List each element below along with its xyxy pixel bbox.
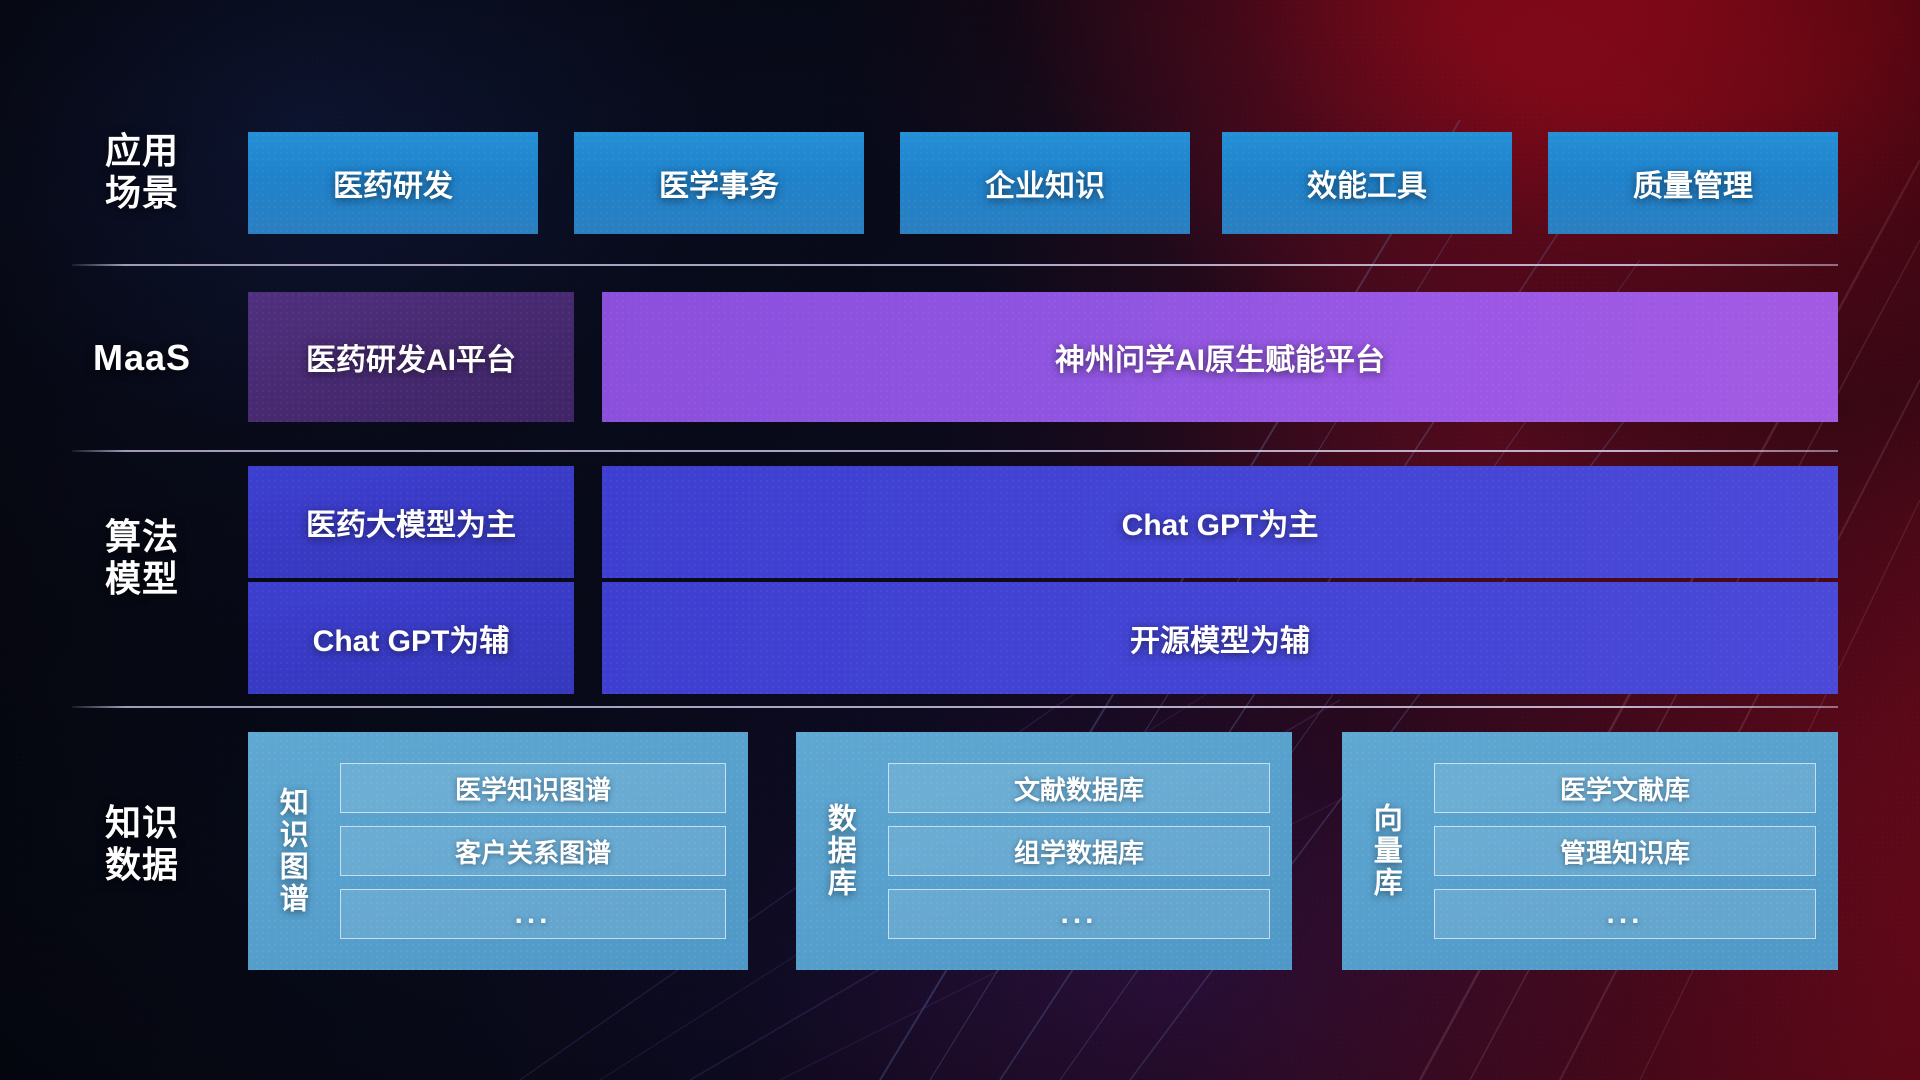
- knowledge-panel-vector-store[interactable]: 向量库 医学文献库 管理知识库 ...: [1342, 732, 1838, 970]
- scenario-box-2[interactable]: 医学事务: [574, 132, 864, 234]
- knowledge-item[interactable]: 客户关系图谱: [340, 826, 726, 876]
- algo-box-chatgpt-primary[interactable]: Chat GPT为主: [602, 466, 1838, 578]
- scenario-box-1[interactable]: 医药研发: [248, 132, 538, 234]
- maas-box-shenzhou-platform[interactable]: 神州问学AI原生赋能平台: [602, 292, 1838, 422]
- knowledge-panel-knowledge-graph[interactable]: 知识图谱 医学知识图谱 客户关系图谱 ...: [248, 732, 748, 970]
- separator-2: [72, 450, 1838, 452]
- algo-box-drug-model-primary[interactable]: 医药大模型为主: [248, 466, 574, 578]
- row-label-application-scenario: 应用 场景: [72, 130, 212, 214]
- knowledge-item[interactable]: 文献数据库: [888, 763, 1270, 813]
- maas-box-drug-rd-platform[interactable]: 医药研发AI平台: [248, 292, 574, 422]
- architecture-diagram: 应用 场景 医药研发 医学事务 企业知识 效能工具 质量管理 MaaS 医药研发…: [0, 0, 1920, 1080]
- knowledge-item-more[interactable]: ...: [1434, 889, 1816, 939]
- knowledge-panel-title-3: 向量库: [1342, 732, 1428, 970]
- separator-3: [72, 706, 1838, 708]
- knowledge-panel-title-2: 数据库: [796, 732, 882, 970]
- knowledge-item[interactable]: 医学知识图谱: [340, 763, 726, 813]
- algo-box-opensource-secondary[interactable]: 开源模型为辅: [602, 582, 1838, 694]
- separator-1: [72, 264, 1838, 266]
- algo-box-chatgpt-secondary[interactable]: Chat GPT为辅: [248, 582, 574, 694]
- scenario-box-3[interactable]: 企业知识: [900, 132, 1190, 234]
- knowledge-panel-items-3: 医学文献库 管理知识库 ...: [1428, 732, 1838, 970]
- knowledge-item[interactable]: 医学文献库: [1434, 763, 1816, 813]
- row-label-knowledge-data: 知识 数据: [72, 802, 212, 886]
- knowledge-panel-items-1: 医学知识图谱 客户关系图谱 ...: [334, 732, 748, 970]
- row-label-algorithm-model: 算法 模型: [72, 516, 212, 600]
- knowledge-item-more[interactable]: ...: [340, 889, 726, 939]
- knowledge-item-more[interactable]: ...: [888, 889, 1270, 939]
- row-label-maas: MaaS: [72, 337, 212, 379]
- knowledge-panel-database[interactable]: 数据库 文献数据库 组学数据库 ...: [796, 732, 1292, 970]
- scenario-box-4[interactable]: 效能工具: [1222, 132, 1512, 234]
- scenario-box-5[interactable]: 质量管理: [1548, 132, 1838, 234]
- knowledge-item[interactable]: 管理知识库: [1434, 826, 1816, 876]
- knowledge-panel-items-2: 文献数据库 组学数据库 ...: [882, 732, 1292, 970]
- knowledge-panel-title-1: 知识图谱: [248, 732, 334, 970]
- knowledge-item[interactable]: 组学数据库: [888, 826, 1270, 876]
